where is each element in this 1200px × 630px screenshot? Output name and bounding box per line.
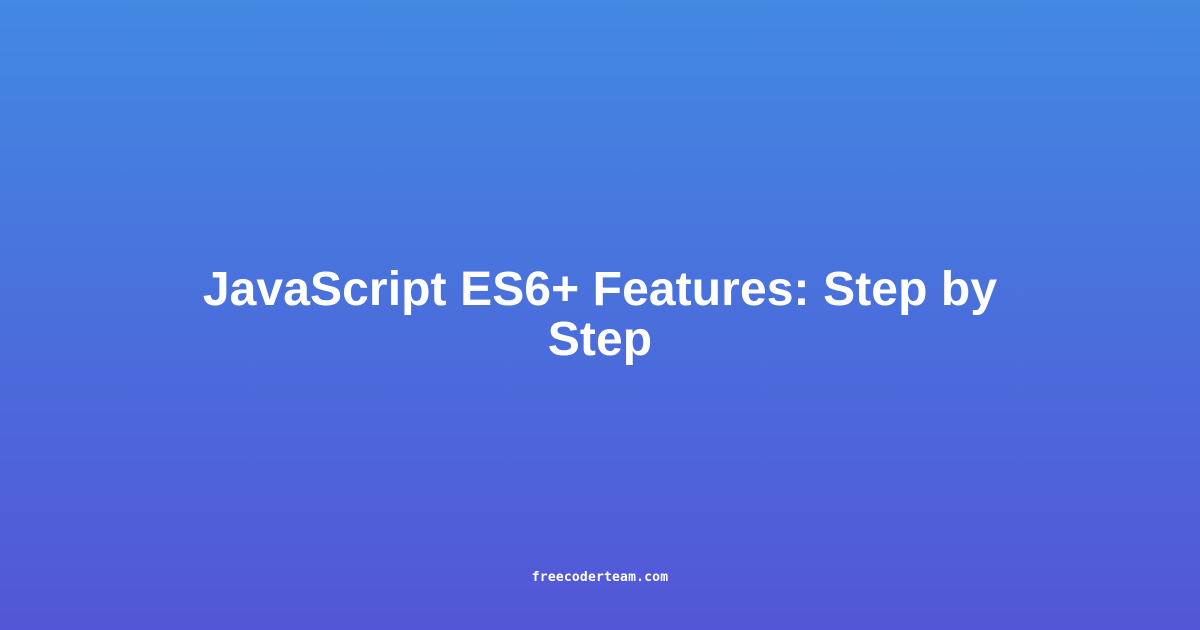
title-block: JavaScript ES6+ Features: Step by Step <box>0 0 1200 630</box>
footer-brand: freecoderteam.com <box>0 568 1200 586</box>
og-card: JavaScript ES6+ Features: Step by Step f… <box>0 0 1200 630</box>
site-brand-label: freecoderteam.com <box>532 570 668 586</box>
page-title: JavaScript ES6+ Features: Step by Step <box>180 265 1020 365</box>
